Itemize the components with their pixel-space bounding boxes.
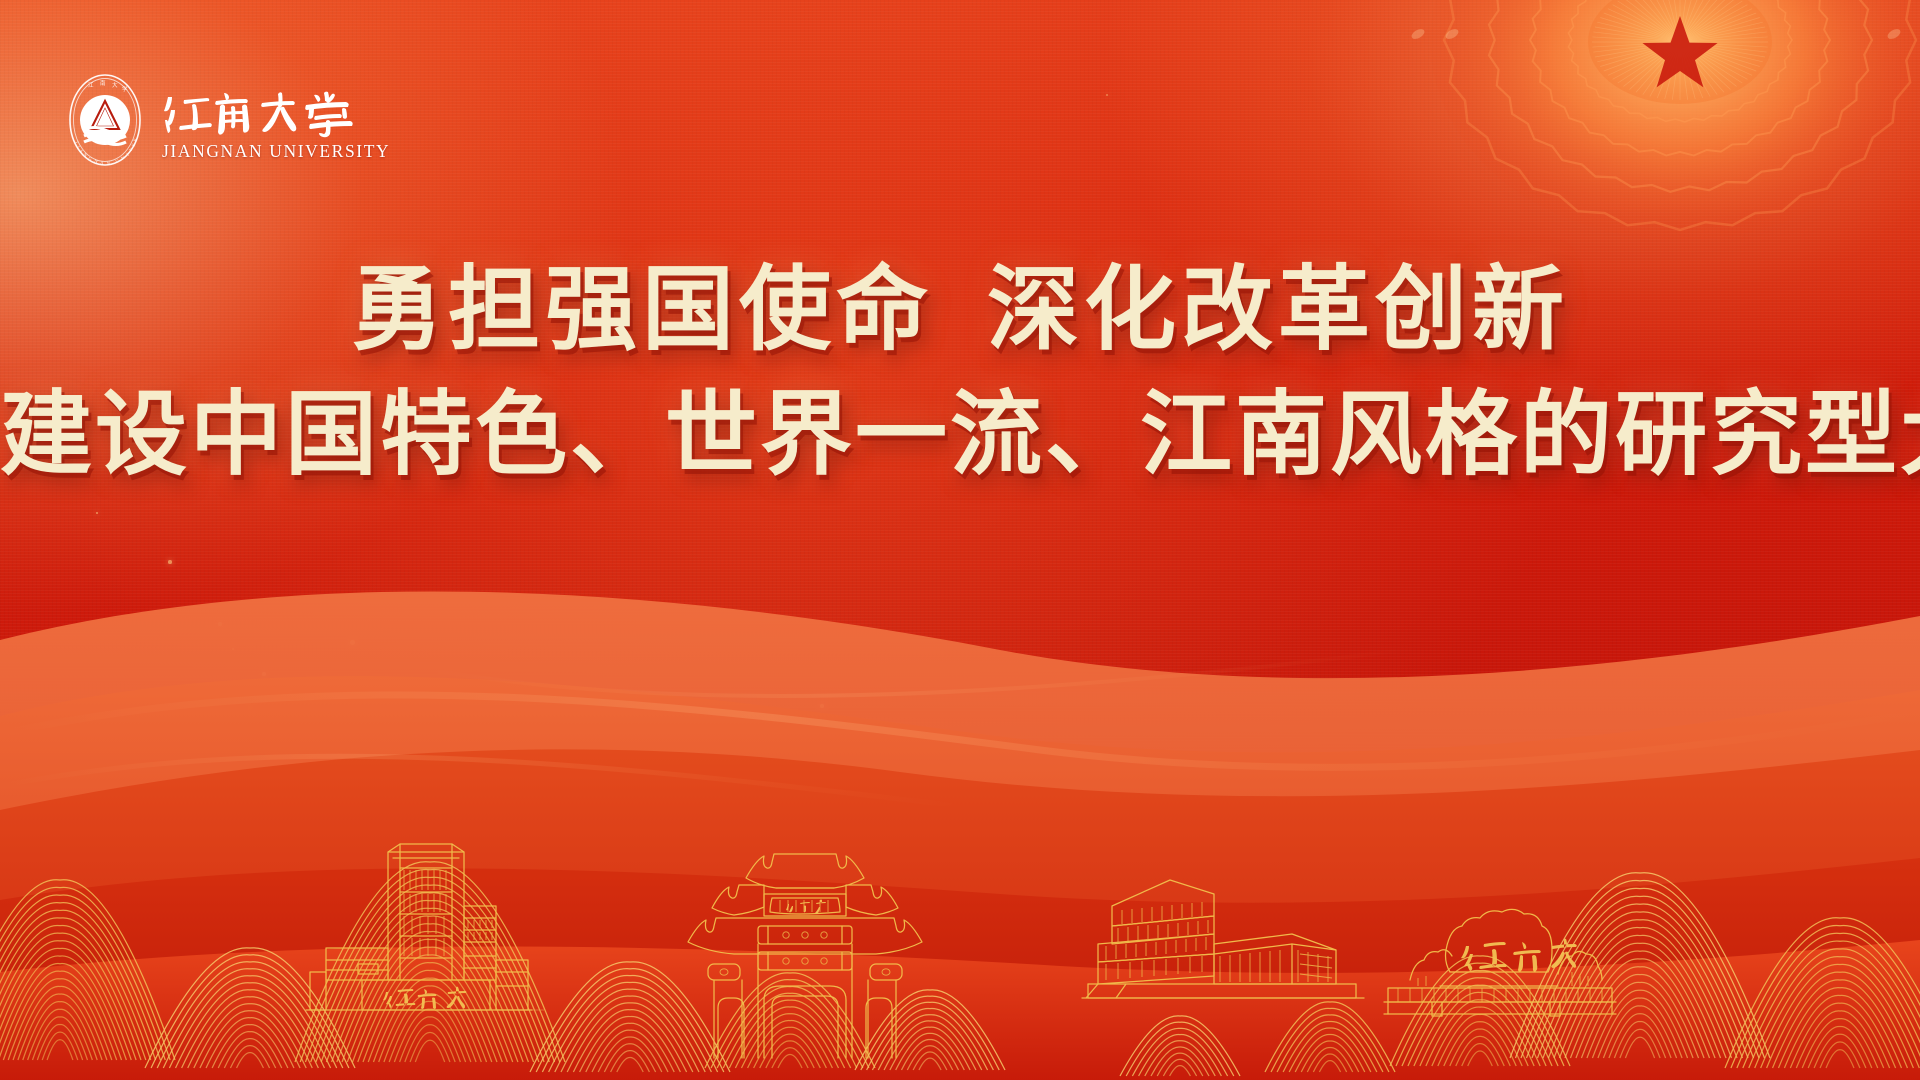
- line-mountain-stripe: [542, 975, 717, 1072]
- medallion-ray: [1618, 47, 1673, 83]
- line-mountain-stripe: [353, 947, 508, 1062]
- line-mountain-stripe: [611, 1051, 650, 1072]
- line-mountain-stripe: [1157, 1053, 1203, 1076]
- line-mountain-stripe: [358, 955, 502, 1062]
- medallion-ray: [1690, 43, 1767, 52]
- line-mountain-stripe: [1609, 1014, 1671, 1058]
- medallion-ray: [1618, 1, 1673, 37]
- line-mountain-stripe: [1773, 980, 1908, 1068]
- line-mountain-stripe: [1737, 933, 1920, 1068]
- sparkle-dot: [248, 706, 253, 711]
- line-mountain-stripe: [1548, 928, 1731, 1058]
- line-mountain-stripe: [1163, 1059, 1196, 1076]
- medallion-ray: [1682, 49, 1696, 99]
- line-mountain-stripe: [1414, 985, 1546, 1066]
- line-mountain-stripe: [347, 939, 512, 1062]
- line-mountain-stripe: [0, 910, 156, 1060]
- landscape-layer: [0, 520, 1920, 1080]
- medallion-ray: [1689, 46, 1757, 72]
- line-mountain-stripe: [0, 964, 122, 1060]
- medallion-ray: [1623, 47, 1673, 86]
- line-mountain-stripe: [1543, 920, 1737, 1058]
- line-mountain-stripe: [1521, 888, 1759, 1058]
- line-mountain-stripe: [47, 1040, 73, 1060]
- medallion-ray: [1630, 0, 1675, 36]
- line-mountain-stripe: [1796, 1011, 1883, 1068]
- sparkle-dot: [168, 560, 172, 564]
- medallion-ray: [1636, 48, 1675, 92]
- headline-line-2: 建设中国特色、世界一流、江南风格的研究型大学: [0, 377, 1920, 491]
- line-mountain-stripe: [316, 893, 544, 1062]
- medallion-ring: [1530, 0, 1830, 156]
- radial-star-medallion: [1400, 0, 1920, 270]
- line-mountain-stripe: [711, 980, 869, 1068]
- line-mountain-stripe: [1510, 873, 1770, 1058]
- line-mountain-stripe: [0, 903, 160, 1060]
- sparkle-dot: [1106, 94, 1108, 96]
- medallion-dot: [1410, 27, 1426, 41]
- line-mountain-stripe: [373, 978, 486, 1062]
- traditional-paifang-gate-illustration: [680, 830, 930, 1060]
- line-mountain-stripe: [536, 969, 724, 1072]
- line-mountain-stripe: [1620, 1029, 1660, 1058]
- line-mountain-stripe: [604, 1044, 655, 1072]
- medallion-ray: [1681, 0, 1688, 35]
- line-mountain-stripe: [907, 1046, 952, 1070]
- medallion-ray: [1685, 48, 1724, 92]
- line-mountain-stripe: [561, 996, 699, 1072]
- medallion-ray: [1689, 44, 1762, 61]
- line-mountain-stripe: [1450, 1029, 1510, 1066]
- line-mountain-stripe: [1283, 1021, 1377, 1072]
- sparkle-dot: [350, 640, 355, 645]
- line-mountain-stripe: [1778, 988, 1901, 1068]
- line-mountain-stripe: [206, 1018, 294, 1068]
- line-mountain-stripe: [326, 908, 533, 1062]
- line-mountain-stripe: [1603, 1006, 1676, 1058]
- medallion-ray: [1683, 0, 1703, 35]
- line-mountain-stripe: [705, 973, 875, 1068]
- medallion-ray: [1613, 46, 1673, 79]
- medallion-ray: [1688, 5, 1748, 38]
- line-mountain-stripe: [176, 983, 325, 1068]
- line-mountain-stripe: [1820, 1042, 1860, 1068]
- line-mountain-stripe: [305, 877, 554, 1062]
- line-mountain-stripe: [0, 941, 136, 1060]
- line-mountain-stripe: [861, 996, 999, 1070]
- line-mountain-stripe: [567, 1003, 693, 1072]
- line-mountain-stripe: [872, 1009, 987, 1070]
- line-mountain-stripe: [1532, 904, 1748, 1058]
- line-mountain-stripe: [1731, 926, 1920, 1068]
- line-mountain-stripe: [0, 895, 165, 1060]
- sparkle-dot: [232, 648, 234, 650]
- medallion-ray: [1650, 49, 1677, 97]
- line-mountain-stripe: [311, 885, 550, 1062]
- line-mountain-stripe: [1808, 1026, 1872, 1068]
- medallion-ray: [1593, 32, 1670, 41]
- line-mountain-stripe: [1426, 1000, 1534, 1066]
- line-mountain-stripe: [1554, 935, 1726, 1058]
- medallion-ray: [1689, 17, 1760, 39]
- line-mountain-stripe: [760, 1034, 821, 1068]
- svg-text:学: 学: [122, 85, 128, 93]
- line-mountain-stripe: [1559, 943, 1720, 1058]
- line-mountain-stripe: [1468, 1051, 1493, 1066]
- sparkle-dot: [60, 452, 65, 457]
- line-mountain-stripe: [1313, 1054, 1346, 1072]
- line-mountain-stripe: [151, 955, 349, 1068]
- line-mountain-stripe: [1420, 992, 1540, 1066]
- line-mountain-stripe: [1307, 1048, 1352, 1072]
- line-mountain-stripe: [1319, 1061, 1340, 1072]
- line-mountain-stripe: [1761, 964, 1920, 1068]
- line-mountain-stripe: [13, 986, 107, 1060]
- line-mountain-stripe: [896, 1033, 965, 1070]
- line-mountain-stripe: [855, 990, 1005, 1070]
- line-mountain-stripe: [867, 1002, 994, 1070]
- line-mountain-stripe: [884, 1021, 976, 1070]
- line-mountain-stripe: [1767, 972, 1914, 1068]
- medallion-ray: [1597, 44, 1670, 61]
- line-mountain-stripe: [1749, 949, 1920, 1068]
- line-mountain-stripe: [163, 969, 336, 1068]
- medallion-ray: [1592, 37, 1670, 41]
- line-mountain-stripe: [766, 1041, 814, 1068]
- medallion-ray: [1608, 46, 1672, 75]
- line-mountain-stripe: [1170, 1066, 1191, 1076]
- medallion-ray: [1636, 0, 1675, 36]
- line-mountain-stripe: [913, 1052, 947, 1070]
- svg-text:江: 江: [88, 82, 94, 89]
- line-mountain-stripe: [218, 1032, 282, 1068]
- line-mountain-stripe: [342, 932, 518, 1062]
- line-mountain-stripe: [1565, 951, 1715, 1058]
- line-mountain-stripe: [1408, 978, 1552, 1066]
- line-mountain-stripe: [0, 925, 146, 1060]
- line-mountain-stripe: [0, 933, 141, 1060]
- line-mountain-stripe: [0, 887, 170, 1060]
- line-mountain-stripe: [1581, 975, 1698, 1058]
- medallion-ray: [1643, 48, 1676, 94]
- medallion-ray: [1689, 22, 1762, 39]
- line-mountain-stripe: [919, 1058, 941, 1070]
- line-mountain-stripe: [1587, 982, 1693, 1058]
- campus-entrance-stone-illustration: [1380, 892, 1620, 1032]
- medallion-ray: [1685, 0, 1724, 36]
- sparkle-dot: [218, 622, 222, 626]
- line-mountain-stripe: [1515, 881, 1764, 1058]
- line-mountain-stripe: [1120, 1016, 1240, 1076]
- medallion-ring: [1568, 0, 1792, 122]
- sparkle-dot: [130, 470, 134, 474]
- medallion-ray: [1688, 46, 1748, 79]
- medallion-ray: [1608, 9, 1672, 38]
- line-mountain-stripe: [3, 971, 116, 1060]
- medallion-ray: [1672, 49, 1679, 100]
- line-mountain-stripe: [748, 1021, 833, 1068]
- line-mountain-stripe: [617, 1057, 643, 1072]
- line-mountain-stripe: [33, 1017, 88, 1060]
- line-mountain-stripe: [1438, 1014, 1522, 1066]
- line-mountain-stripe: [1814, 1034, 1866, 1068]
- line-mountain-stripe: [723, 993, 857, 1068]
- line-mountain-stripe: [741, 1014, 838, 1068]
- line-mountain-stripe: [754, 1027, 827, 1068]
- line-mountain-stripe: [1614, 1022, 1665, 1058]
- line-mountain-stripe: [1432, 1007, 1528, 1066]
- line-mountain-stripe: [188, 997, 313, 1068]
- headline-line-1: 勇担强国使命深化改革创新: [0, 258, 1920, 361]
- medallion-ray: [1686, 0, 1736, 37]
- line-mountain-stripe: [1802, 1019, 1878, 1068]
- line-mountain-stripe: [1396, 963, 1564, 1066]
- line-mountain-stripe: [1725, 918, 1920, 1068]
- line-mountain-stripe: [300, 869, 560, 1062]
- medallion-ray: [1623, 0, 1673, 37]
- medallion-ring: [1489, 0, 1872, 192]
- line-mountain-stripe: [145, 948, 355, 1068]
- medallion-ray: [1684, 0, 1717, 36]
- line-mountain-stripe: [586, 1023, 674, 1072]
- line-mountain-stripe: [18, 994, 102, 1060]
- line-mountain-stripe: [37, 1025, 82, 1060]
- line-mountain-stripe: [1151, 1047, 1209, 1076]
- line-mountain-stripe: [1390, 956, 1570, 1066]
- sparkle-dot: [96, 512, 98, 514]
- medallion-ray: [1690, 44, 1765, 57]
- line-mountain-stripe: [1576, 967, 1704, 1058]
- line-mountain-stripe: [1526, 896, 1753, 1058]
- svg-text:大: 大: [112, 81, 118, 89]
- line-mountain-stripe: [1301, 1041, 1358, 1072]
- medallion-ray: [1595, 44, 1670, 57]
- medallion-ray: [1688, 9, 1752, 38]
- line-mountain-stripe: [321, 901, 539, 1062]
- line-mountain-stripe: [549, 982, 712, 1072]
- line-mountain-stripe: [1625, 1037, 1654, 1058]
- medallion-ray: [1690, 27, 1765, 40]
- line-mountain-stripe: [1277, 1015, 1383, 1072]
- line-mountain-stripe: [573, 1010, 686, 1072]
- line-mountain-stripe: [1289, 1028, 1371, 1072]
- line-mountain-stripe: [194, 1004, 306, 1068]
- headline-block: 勇担强国使命深化改革创新 建设中国特色、世界一流、江南风格的研究型大学: [0, 258, 1920, 491]
- university-emblem-icon: 江 南 大 学 J I A N G N A N U N I V: [62, 70, 148, 170]
- line-mountain-stripe: [1462, 1044, 1499, 1066]
- headline-line-1b: 深化改革创新: [987, 255, 1569, 363]
- line-mountain-stripe: [1743, 941, 1920, 1068]
- medallion-ray: [1672, 0, 1679, 35]
- line-mountain-stripe: [182, 990, 319, 1068]
- line-mountain-stripe: [1139, 1035, 1222, 1076]
- medallion-ray: [1686, 48, 1731, 90]
- line-mountain-stripe: [384, 994, 476, 1062]
- medallion-ring: [1444, 0, 1916, 230]
- line-mountain-stripe: [1271, 1008, 1389, 1072]
- medallion-ray: [1682, 0, 1696, 35]
- line-mountain-stripe: [157, 962, 343, 1068]
- line-mountain-stripe: [230, 1046, 269, 1068]
- line-mountain-stripe: [379, 986, 482, 1062]
- line-mountain-stripe: [200, 1011, 300, 1068]
- line-mountain-stripe: [42, 1032, 78, 1060]
- line-mountain-stripe: [580, 1016, 681, 1072]
- medallion-ray: [1657, 49, 1677, 98]
- line-mountain-stripe: [555, 989, 705, 1072]
- line-mountain-stripe: [717, 986, 863, 1068]
- line-mountain-stripe: [337, 924, 523, 1062]
- medallion-dot: [1886, 27, 1902, 41]
- line-mountain-stripe: [0, 956, 126, 1060]
- medallion-ray: [1690, 32, 1767, 41]
- logo-wordmark-cn: [162, 79, 372, 139]
- medallion-ray: [1684, 48, 1717, 94]
- line-mountain-stripe: [1265, 1002, 1395, 1072]
- svg-text:南: 南: [100, 79, 106, 87]
- medallion-ray: [1686, 0, 1731, 36]
- line-mountain-stripe: [212, 1025, 288, 1068]
- line-mountain-stripe: [237, 1053, 264, 1068]
- line-mountain-stripe: [363, 963, 497, 1062]
- medallion-dot: [1444, 27, 1460, 41]
- medallion-ray: [1650, 0, 1677, 35]
- line-mountain-stripe: [389, 1001, 471, 1062]
- medallion-ray: [1665, 0, 1679, 35]
- line-mountain-stripe: [1826, 1050, 1854, 1068]
- sparkle-dot: [262, 672, 266, 676]
- line-mountain-stripe: [1570, 959, 1709, 1058]
- line-mountain-stripe: [530, 962, 730, 1072]
- medallion-ray: [1657, 0, 1677, 35]
- sparkle-dot: [290, 690, 292, 692]
- line-mountain-stripe: [592, 1030, 668, 1072]
- sparkle-dot: [410, 718, 412, 720]
- line-mountain-stripe: [394, 1009, 465, 1062]
- medallion-ray: [1592, 43, 1670, 47]
- line-mountain-stripe: [295, 862, 565, 1062]
- line-mountain-stripe: [0, 880, 175, 1060]
- line-mountain-stripe: [0, 918, 151, 1060]
- medallion-ray: [1686, 47, 1736, 86]
- university-logo: 江 南 大 学 J I A N G N A N U N I V: [62, 70, 390, 170]
- line-mountain-stripe: [598, 1037, 662, 1072]
- line-mountain-stripe: [902, 1040, 959, 1070]
- medallion-ray: [1597, 22, 1670, 39]
- line-mountain-stripe: [1755, 957, 1920, 1068]
- line-mountain-stripe: [735, 1007, 844, 1068]
- line-mountain-stripe: [1592, 990, 1687, 1058]
- medallion-ray: [1687, 47, 1742, 83]
- line-mountain-stripe: [778, 1055, 802, 1068]
- line-mountain-stripe: [1598, 998, 1682, 1058]
- line-mountain-stripe: [0, 948, 131, 1060]
- medallion-ray: [1689, 13, 1757, 39]
- medallion-ray: [1604, 46, 1672, 72]
- medallion-ray: [1687, 1, 1742, 37]
- line-mountain-stripe: [368, 970, 492, 1062]
- medallion-ray: [1600, 45, 1671, 67]
- library-building-illustration: [1078, 858, 1368, 1018]
- line-mountain-stripe: [28, 1009, 93, 1060]
- line-mountain-stripe: [772, 1048, 808, 1068]
- line-mountain-stripe: [405, 1025, 455, 1062]
- line-mountain-stripe: [1784, 995, 1895, 1068]
- line-mountain-stripe: [878, 1015, 982, 1070]
- medallion-ray: [1688, 46, 1752, 75]
- medallion-ray: [1683, 49, 1710, 97]
- line-mountain-stripe: [1444, 1022, 1516, 1066]
- line-mountain-stripe: [1456, 1036, 1504, 1066]
- line-mountain-stripe: [23, 1002, 97, 1060]
- medallion-ray: [1681, 49, 1688, 100]
- medallion-ray: [1600, 17, 1671, 39]
- star-icon: [1642, 16, 1717, 87]
- medallion-ray: [1604, 13, 1672, 39]
- line-mountain-stripe: [410, 1032, 450, 1062]
- medallion-ray: [1665, 49, 1679, 99]
- line-mountain-stripe: [729, 1000, 850, 1068]
- medallion-ray: [1643, 0, 1676, 36]
- medallion-ray: [1690, 43, 1768, 47]
- medallion-ray: [1690, 37, 1768, 41]
- line-mountain-stripe: [1790, 1003, 1889, 1068]
- medallion-ray: [1595, 27, 1670, 40]
- medallion-ray: [1683, 0, 1710, 35]
- line-mountain-stripe: [400, 1017, 461, 1062]
- line-mountain-stripe: [890, 1027, 970, 1070]
- line-mountain-stripe: [1295, 1034, 1365, 1072]
- logo-wordmark-en: JIANGNAN UNIVERSITY: [162, 141, 390, 162]
- line-mountain-stripe: [1537, 912, 1742, 1058]
- banner-canvas: 江 南 大 学 J I A N G N A N U N I V: [0, 0, 1920, 1080]
- medallion-ray: [1593, 43, 1670, 52]
- medallion-ray: [1683, 49, 1703, 98]
- line-mountain-stripe: [1132, 1028, 1227, 1076]
- medallion-ray: [1689, 45, 1760, 67]
- line-mountain-stripe: [332, 916, 529, 1062]
- line-mountain-stripe: [224, 1039, 275, 1068]
- main-academic-tower-illustration: [300, 810, 550, 1020]
- line-mountain-stripe: [1126, 1022, 1234, 1076]
- line-mountain-stripe: [1145, 1041, 1215, 1076]
- medallion-ray: [1613, 5, 1673, 38]
- sparkle-dot: [44, 398, 49, 403]
- medallion-ray: [1630, 48, 1675, 90]
- line-mountain-stripe: [8, 979, 112, 1060]
- line-mountain-stripe: [169, 976, 330, 1068]
- headline-line-1a: 勇担强国使命: [351, 255, 933, 363]
- line-mountain-stripe: [415, 1040, 444, 1062]
- sparkle-dot: [820, 704, 824, 708]
- line-mountain-stripe: [1402, 970, 1558, 1066]
